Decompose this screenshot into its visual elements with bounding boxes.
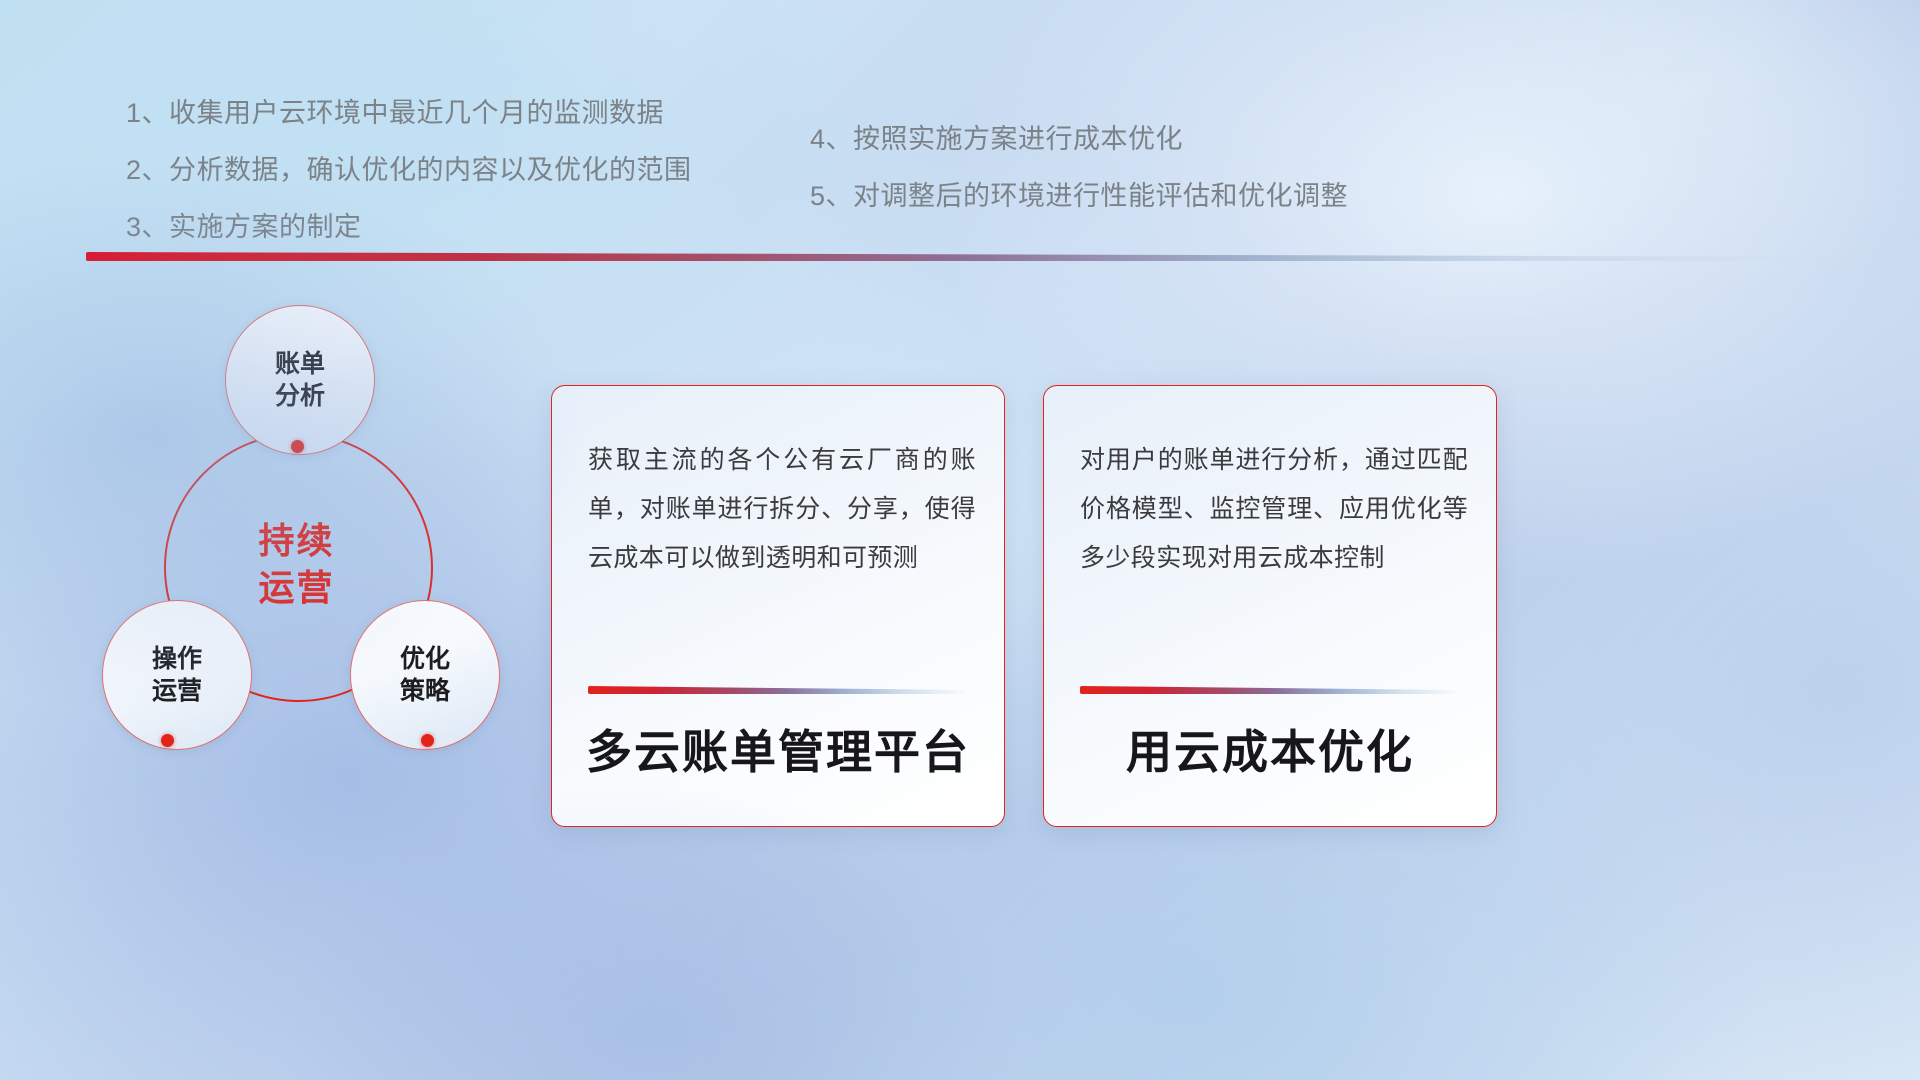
bubble-label: 优化策略 bbox=[400, 643, 450, 707]
card-divider bbox=[588, 686, 968, 694]
step-item-2: 2、分析数据，确认优化的内容以及优化的范围 bbox=[126, 157, 692, 184]
step-item-3: 3、实施方案的制定 bbox=[126, 214, 692, 241]
bubble-bill-analysis[interactable]: 账单分析 bbox=[225, 305, 375, 455]
continuous-operation-diagram: 账单分析 操作运营 优化策略 持续运营 bbox=[85, 295, 545, 775]
step-item-5: 5、对调整后的环境进行性能评估和优化调整 bbox=[810, 183, 1348, 210]
slide-background: 1、收集用户云环境中最近几个月的监测数据 2、分析数据，确认优化的内容以及优化的… bbox=[0, 0, 1920, 1080]
card-title: 用云成本优化 bbox=[1044, 716, 1496, 782]
steps-list-right: 4、按照实施方案进行成本优化 5、对调整后的环境进行性能评估和优化调整 bbox=[810, 126, 1348, 210]
feature-card-cost-optimization[interactable]: 对用户的账单进行分析，通过匹配价格模型、监控管理、应用优化等多少段实现对用云成本… bbox=[1043, 385, 1497, 827]
feature-card-multicloud-billing[interactable]: 获取主流的各个公有云厂商的账单，对账单进行拆分、分享，使得云成本可以做到透明和可… bbox=[551, 385, 1005, 827]
step-item-4: 4、按照实施方案进行成本优化 bbox=[810, 126, 1348, 153]
card-title: 多云账单管理平台 bbox=[552, 716, 1004, 782]
node-dot-top bbox=[291, 440, 304, 453]
bubble-label: 操作运营 bbox=[152, 643, 202, 707]
card-description: 对用户的账单进行分析，通过匹配价格模型、监控管理、应用优化等多少段实现对用云成本… bbox=[1080, 436, 1468, 582]
card-description: 获取主流的各个公有云厂商的账单，对账单进行拆分、分享，使得云成本可以做到透明和可… bbox=[588, 436, 976, 582]
section-divider bbox=[86, 252, 1836, 261]
step-item-1: 1、收集用户云环境中最近几个月的监测数据 bbox=[126, 100, 692, 127]
card-divider bbox=[1080, 686, 1460, 694]
cycle-center-label: 持续运营 bbox=[164, 490, 429, 640]
steps-list-left: 1、收集用户云环境中最近几个月的监测数据 2、分析数据，确认优化的内容以及优化的… bbox=[126, 100, 692, 241]
node-dot-left bbox=[161, 734, 174, 747]
bubble-label: 账单分析 bbox=[275, 348, 325, 412]
node-dot-right bbox=[421, 734, 434, 747]
